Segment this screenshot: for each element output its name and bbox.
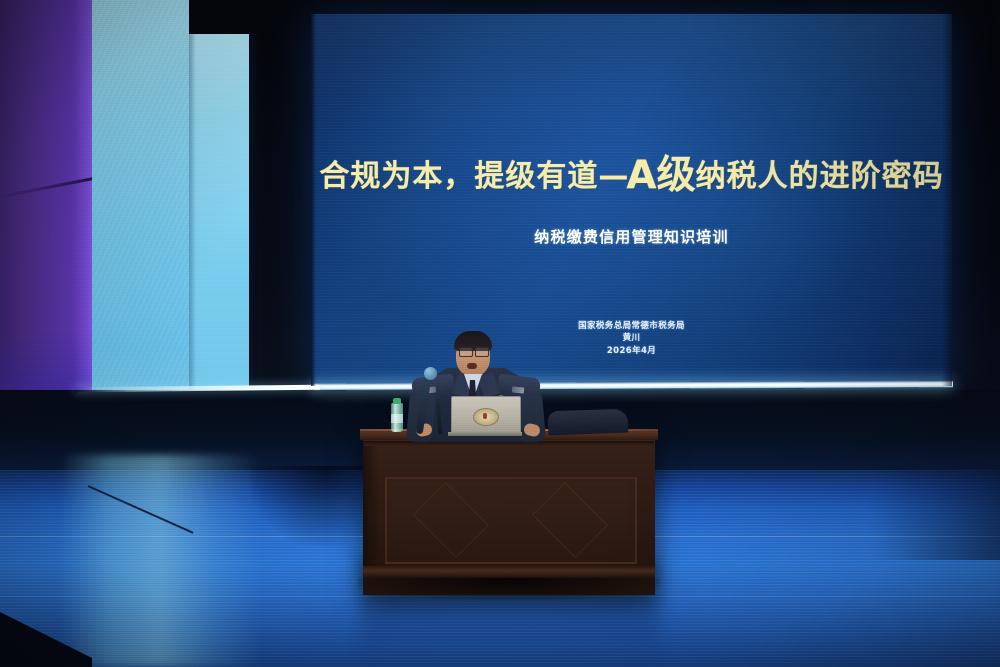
projection-screen: 合规为本，提级有道—A级纳税人的进阶密码 纳税缴费信用管理知识培训 国家税务总局… <box>311 14 952 386</box>
slide-footer-date: 2026年4月 <box>311 345 952 357</box>
stage-photo-scene: 合规为本，提级有道—A级纳税人的进阶密码 纳税缴费信用管理知识培训 国家税务总局… <box>0 0 1000 667</box>
microphone-head-icon <box>424 367 437 380</box>
desk-bag <box>548 409 629 436</box>
podium-base-moulding <box>363 566 655 578</box>
slide-title-trail: 纳税人的进阶密码 <box>696 159 944 194</box>
glasses-bridge-icon <box>471 350 475 351</box>
slide-title: 合规为本，提级有道—A级纳税人的进阶密码 <box>311 144 952 200</box>
slide-title-lead: 合规为本，提级有道 <box>319 159 598 194</box>
slide-title-emphasis: A级 <box>626 153 695 198</box>
water-bottle-cap <box>393 398 401 404</box>
slide-footer-organization: 国家税务总局常德市税务局 <box>311 320 952 332</box>
glasses-right-lens-icon <box>475 347 489 357</box>
slide-footer: 国家税务总局常德市税务局 黄川 2026年4月 <box>311 320 952 357</box>
speaker-mouth <box>467 363 477 369</box>
slide-content: 合规为本，提级有道—A级纳税人的进阶密码 纳税缴费信用管理知识培训 国家税务总局… <box>311 14 952 386</box>
podium-ground-shadow <box>358 578 660 600</box>
slide-subtitle: 纳税缴费信用管理知识培训 <box>311 226 952 247</box>
water-bottle-label <box>391 414 403 423</box>
epaulette-right-icon <box>512 386 525 393</box>
laptop-base <box>448 432 522 436</box>
podium-left-shading <box>363 441 379 573</box>
slide-title-dash: — <box>598 159 626 194</box>
laptop-emblem-center-icon <box>483 413 487 419</box>
slide-footer-presenter: 黄川 <box>311 332 952 344</box>
stage-floor-shadow-right <box>870 470 1000 560</box>
glasses-left-lens-icon <box>459 347 473 357</box>
